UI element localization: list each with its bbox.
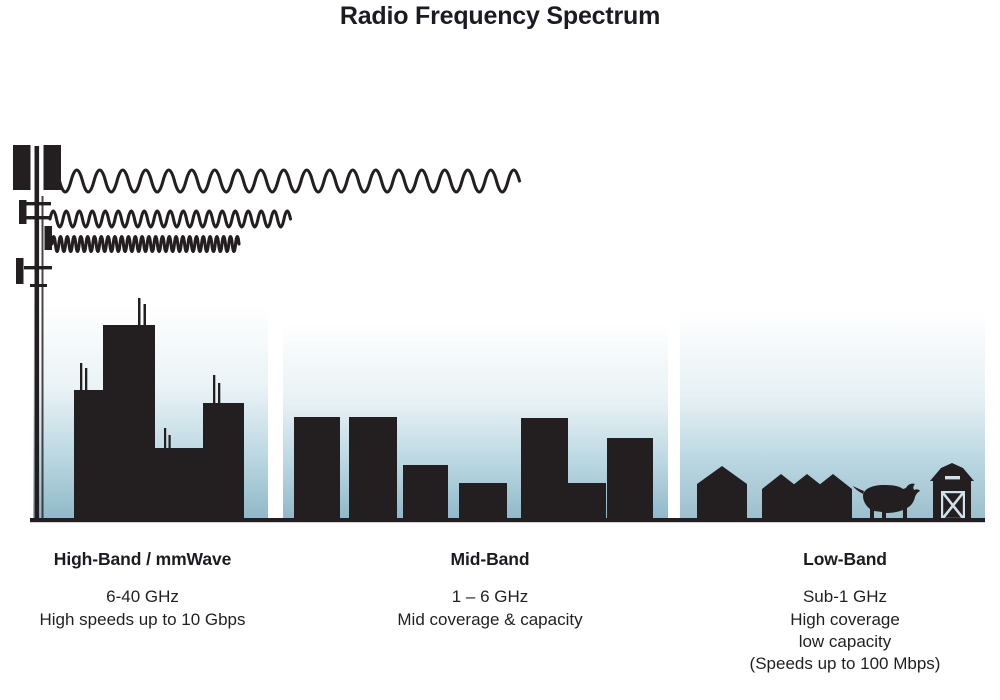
antenna-spire	[138, 298, 141, 326]
tower-antenna-panel-3	[19, 200, 27, 224]
band-description-high: High speeds up to 10 Gbps	[0, 609, 285, 631]
mid-frequency-wave	[50, 211, 291, 227]
antenna-spire	[144, 304, 147, 326]
band-caption-low: Low-Band Sub-1 GHz High coverage low cap…	[700, 548, 990, 676]
band-title-mid: Mid-Band	[345, 548, 635, 571]
antenna-spire	[218, 383, 220, 404]
ground-line	[30, 518, 985, 522]
antenna-spire	[213, 375, 215, 404]
antenna-spire	[85, 368, 87, 391]
band-speed-low: (Speeds up to 100 Mbps)	[700, 653, 990, 675]
band-description-mid: Mid coverage & capacity	[345, 609, 635, 631]
band-frequency-low: Sub-1 GHz	[700, 586, 990, 608]
band-capacity-low: low capacity	[700, 631, 990, 653]
building-icon-5	[521, 418, 568, 520]
tower-crossarm-3	[24, 266, 52, 269]
tower-antenna-panel-4	[45, 226, 53, 250]
band-coverage-low: High coverage	[700, 609, 990, 631]
tower-antenna-panel-1	[13, 145, 31, 190]
band-caption-high: High-Band / mmWave 6-40 GHz High speeds …	[0, 548, 285, 631]
radio-waves	[48, 170, 520, 252]
band-detail-high: 6-40 GHz High speeds up to 10 Gbps	[0, 586, 285, 631]
band-detail-mid: 1 – 6 GHz Mid coverage & capacity	[345, 586, 635, 631]
band-detail-low: Sub-1 GHz High coverage low capacity (Sp…	[700, 586, 990, 676]
skyscraper-icon-1	[74, 390, 103, 520]
band-frequency-mid: 1 – 6 GHz	[345, 586, 635, 608]
low-frequency-wave	[48, 170, 520, 192]
band-title-high: High-Band / mmWave	[0, 548, 285, 571]
band-frequency-high: 6-40 GHz	[0, 586, 285, 608]
skyscraper-icon-3	[155, 448, 203, 520]
tower-mast-secondary	[42, 196, 44, 520]
building-icon-4	[459, 483, 507, 520]
antenna-spire	[164, 428, 166, 449]
building-icon-7	[607, 438, 653, 520]
tower-antenna-panel-2	[44, 145, 62, 190]
tower-crossarm-1	[25, 202, 51, 205]
building-icon-6	[568, 483, 606, 520]
band-caption-mid: Mid-Band 1 – 6 GHz Mid coverage & capaci…	[345, 548, 635, 631]
tower-crossarm-4	[30, 284, 47, 287]
high-frequency-wave	[52, 237, 239, 252]
building-icon-1	[294, 417, 340, 520]
building-icon-2	[349, 417, 397, 520]
antenna-spire	[169, 435, 171, 449]
infographic-root: Radio Frequency Spectrum	[0, 0, 1000, 700]
band-title-low: Low-Band	[700, 548, 990, 571]
skyscraper-icon-2	[103, 325, 155, 520]
tower-antenna-panel-5	[16, 258, 24, 284]
tower-crossarm-2	[25, 216, 51, 219]
skyscraper-icon-4	[203, 403, 244, 520]
antenna-spire	[80, 363, 82, 391]
building-icon-3	[403, 465, 448, 520]
